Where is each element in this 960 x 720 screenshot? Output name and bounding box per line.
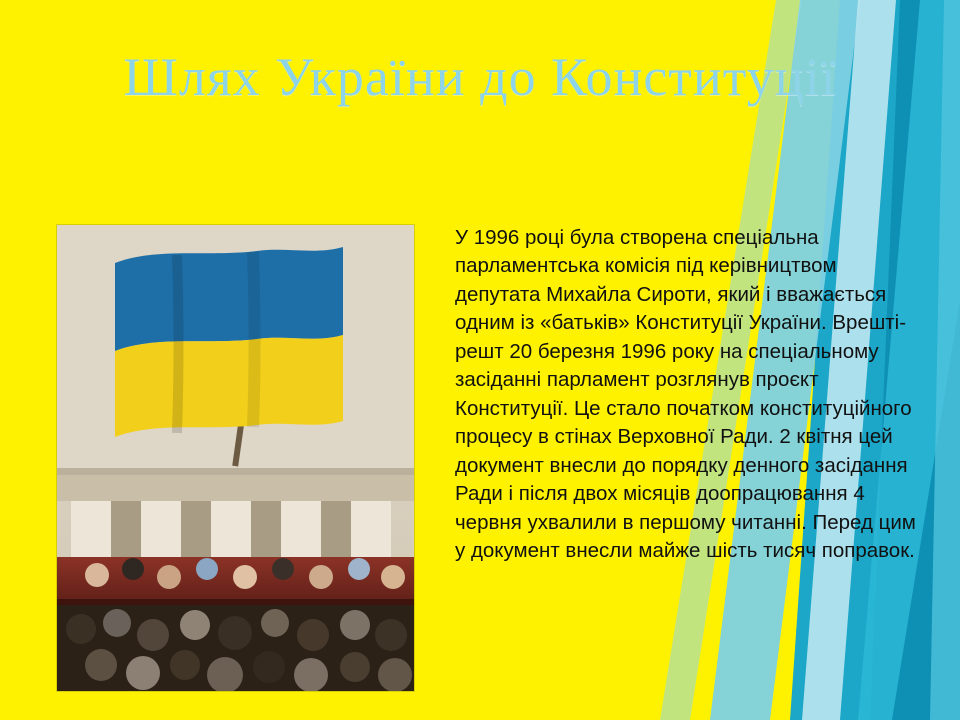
body-paragraph: У 1996 році була створена спеціальна пар…: [455, 224, 920, 566]
page-title: Шлях України до Конституції: [0, 46, 960, 108]
parliament-photo: [57, 225, 414, 691]
slide: Шлях України до Конституції: [0, 0, 960, 720]
